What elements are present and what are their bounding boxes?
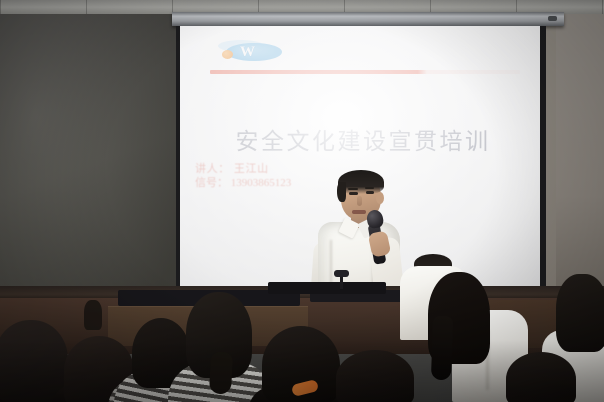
presenter-mouth: [352, 210, 366, 214]
presenter-eyebrow-left: [348, 188, 358, 190]
logo-oval-icon: [226, 43, 282, 61]
audience-member-10: [506, 352, 576, 402]
housing-knob-icon: [548, 16, 557, 21]
audience-member-8-ponytail: [431, 316, 453, 381]
presenter-eye-right: [366, 191, 374, 194]
audience-member-6: [336, 350, 414, 402]
presentation-room-photo: W 安全文化建设宣贯培训 讲人： 王江山 信号： 13903865123: [0, 0, 604, 402]
audience-member-4-ponytail: [209, 351, 233, 394]
presenter-nose: [357, 196, 362, 206]
projector-screen-housing: [172, 12, 564, 26]
slide-accent-rule: [210, 70, 520, 74]
presenter-eyebrow-right: [365, 187, 374, 189]
logo-dot-icon: [222, 50, 233, 59]
desk-microphone-head-icon: [334, 270, 349, 277]
audience-member-9-hair: [556, 274, 604, 352]
slide-contact-line: 信号： 13903865123: [195, 176, 291, 190]
audience-member-1: [0, 320, 68, 402]
logo-wordmark-letter: W: [240, 44, 254, 61]
slide-presenter-info: 讲人： 王江山 信号： 13903865123: [195, 162, 291, 190]
presenter-ear: [376, 192, 384, 204]
desk-monitor: [268, 282, 386, 294]
desk-microphone-stand: [340, 275, 343, 289]
audience-member-11: [84, 300, 102, 330]
slide-logo: W: [214, 40, 300, 64]
presenter-hair-side: [337, 182, 346, 202]
presenter-eye-left: [349, 192, 358, 195]
slide-presenter-line: 讲人： 王江山: [195, 162, 291, 176]
slide-title: 安全文化建设宣贯培训: [208, 122, 518, 156]
